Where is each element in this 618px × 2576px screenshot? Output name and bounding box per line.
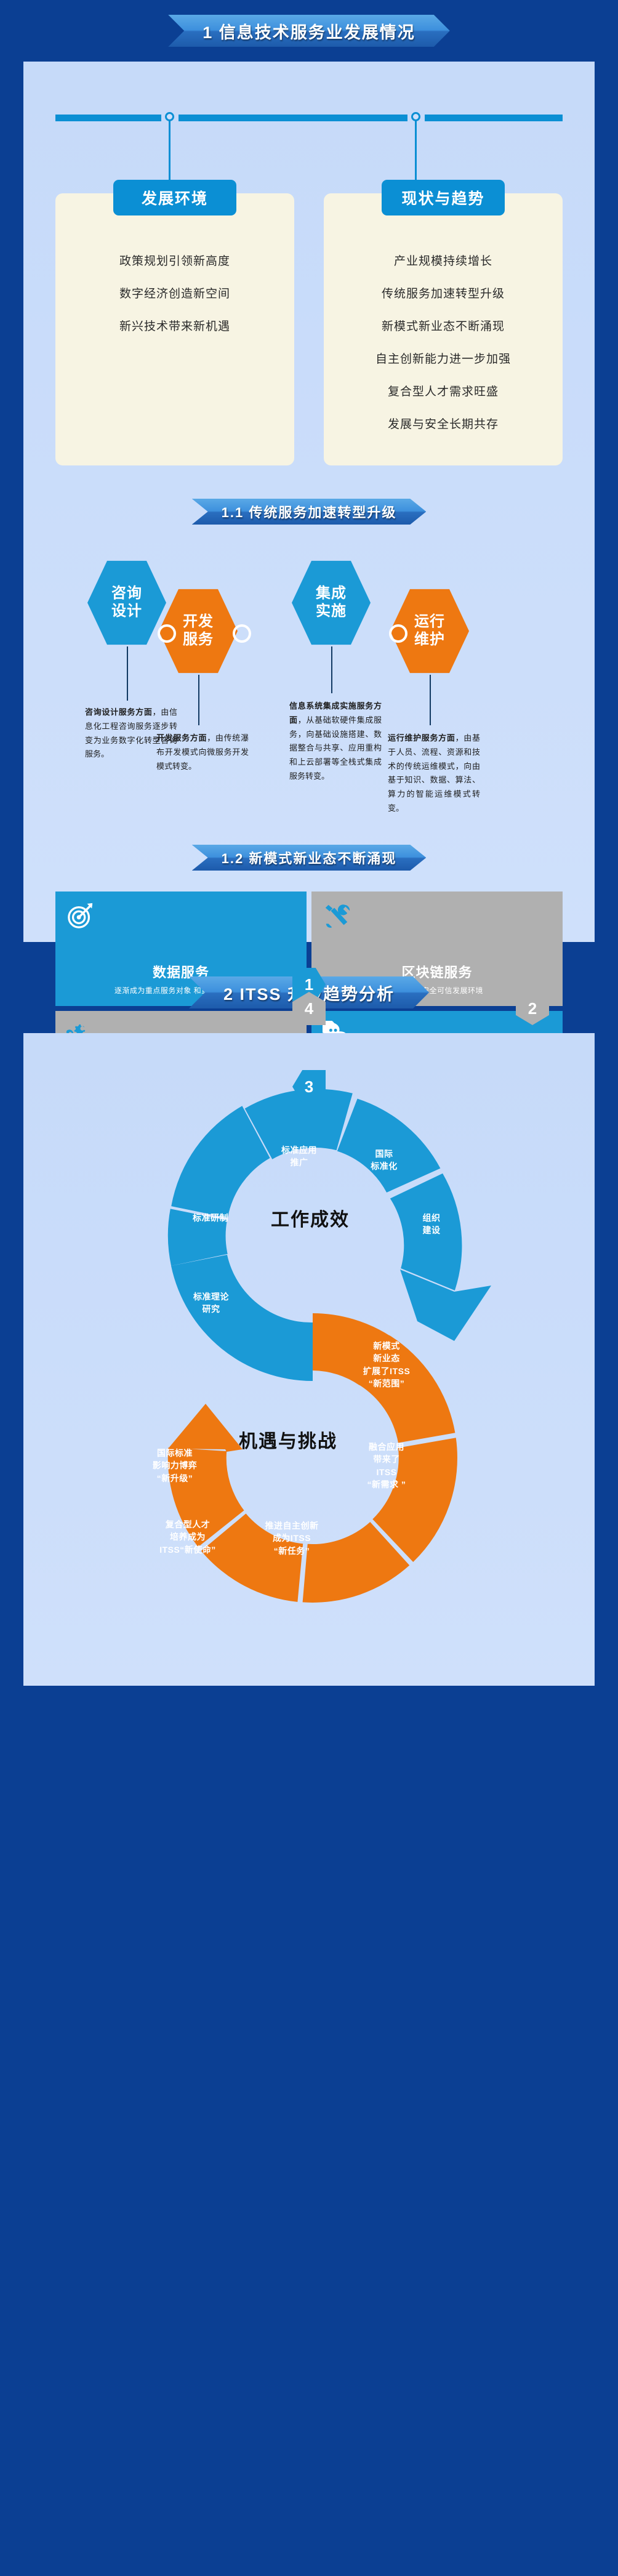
s-segment-new-task: 推进自主创新 成为ITSS “新任务” [244, 1519, 340, 1557]
connector-bar-middle [179, 115, 407, 121]
tools-icon [323, 901, 351, 930]
hex-label-line1: 咨询 [111, 585, 142, 603]
list-item: 新兴技术带来新机遇 [71, 310, 278, 343]
hex-label-line2: 服务 [183, 631, 214, 649]
list-item: 发展与安全长期共存 [340, 408, 547, 441]
spacer-after-banner1 [0, 47, 618, 62]
s-segment-organization-building: 组织 建设 [405, 1212, 458, 1237]
s-segment-international-standardization: 国际 标准化 [355, 1148, 414, 1173]
hex-desc-integration: 信息系统集成实施服务方面，从基础软硬件集成服务，向基础设施搭建、数据整合与共享、… [289, 699, 382, 784]
section1-2-banner: 1.2 新模式新业态不断涌现 [192, 845, 427, 871]
list-item: 复合型人才需求旺盛 [340, 376, 547, 408]
hex-desc-lead: 运行维护服务方面 [388, 733, 455, 743]
list-item: 数字经济创造新空间 [71, 278, 278, 310]
hex-stem-1 [127, 646, 128, 701]
card-list: 产业规模持续增长 传统服务加速转型升级 新模式新业态不断涌现 自主创新能力进一步… [324, 245, 563, 441]
hexagon-flow: 咨询 设计 开发 服务 集成 实施 运行 维护 咨询设计 [23, 549, 595, 839]
card-title: 现状与趋势 [382, 180, 505, 215]
hex-stem-2 [198, 675, 199, 725]
s-segment-new-upgrade: 国际标准 影响力博弈 “新升级” [127, 1447, 223, 1484]
infographic-page: 1 信息技术服务业发展情况 发展环境 政策规划引领新高度 数字经济创造新空间 新… [0, 0, 618, 2576]
hex-stem-3 [331, 646, 332, 693]
section1-cards: 发展环境 政策规划引领新高度 数字经济创造新空间 新兴技术带来新机遇 现状与趋势… [23, 193, 595, 465]
list-item: 传统服务加速转型升级 [340, 278, 547, 310]
hex-label-line2: 维护 [414, 631, 445, 649]
hex-desc-lead: 开发服务方面 [156, 733, 207, 743]
s-segment-new-scope: 新模式 新业态 扩展了ITSS “新范围” [337, 1340, 436, 1390]
s-segment-standard-theory-research: 标准理论 研究 [177, 1290, 245, 1316]
connector-bar-right [425, 115, 563, 121]
panel-section1: 发展环境 政策规划引领新高度 数字经济创造新空间 新兴技术带来新机遇 现状与趋势… [23, 62, 595, 942]
card-title: 发展环境 [113, 180, 236, 215]
section1-banner-wrap: 1 信息技术服务业发展情况 [0, 15, 618, 47]
hex-label-line1: 开发 [183, 613, 214, 631]
hex-desc-body: ，从基础软硬件集成服务，向基础设施搭建、数据整合与共享、应用重构和上云部署等全栈… [289, 715, 382, 781]
hex-connector-ring-2 [233, 624, 251, 643]
hex-stem-4 [430, 675, 431, 725]
list-item: 政策规划引领新高度 [71, 245, 278, 278]
s-segment-new-demand: 融合应用 带来了 ITSS “新需求 ” [343, 1441, 430, 1491]
connector-bars [55, 112, 563, 123]
hex-label-line2: 实施 [316, 603, 347, 621]
hex-label-line2: 设计 [111, 603, 142, 621]
section1-2-banner-wrap: 1.2 新模式新业态不断涌现 [23, 845, 595, 871]
list-item: 产业规模持续增长 [340, 245, 547, 278]
card-status-and-trends: 现状与趋势 产业规模持续增长 传统服务加速转型升级 新模式新业态不断涌现 自主创… [324, 193, 563, 465]
hex-desc-operation: 运行维护服务方面，由基于人员、流程、资源和技术的传统运维模式，向由基于知识、数据… [388, 731, 480, 816]
hex-desc-lead: 咨询设计服务方面 [85, 707, 153, 717]
section1-1-banner-wrap: 1.1 传统服务加速转型升级 [23, 499, 595, 525]
hex-label-line1: 运行 [414, 613, 445, 631]
target-arrow-icon [66, 901, 95, 930]
hex-desc-body: ，由基于人员、流程、资源和技术的传统运维模式，向由基于知识、数据、算法、算力的智… [388, 733, 480, 813]
s-curve-svg [23, 1033, 595, 1661]
s-curve-top-label: 工作成效 [271, 1204, 350, 1231]
s-segment-new-mission: 复合型人才 培养成为 ITSS“新使命” [135, 1518, 240, 1556]
hex-desc-development: 开发服务方面，由传统瀑布开发模式向微服务开发模式转变。 [156, 731, 249, 773]
connector-node-left [165, 112, 174, 121]
card-development-environment: 发展环境 政策规划引领新高度 数字经济创造新空间 新兴技术带来新机遇 [55, 193, 294, 465]
panel-section2: 工作成效 机遇与挑战 标准应用 推广 国际 标准化 组织 建设 标准研制 标准理… [23, 1033, 595, 1686]
section1-banner: 1 信息技术服务业发展情况 [168, 15, 450, 47]
hex-connector-ring-3 [389, 624, 407, 643]
hex-label-line1: 集成 [316, 585, 347, 603]
connector-node-right [411, 112, 420, 121]
hex-consulting-design: 咨询 设计 [87, 559, 166, 646]
hex-integration-implementation: 集成 实施 [292, 559, 371, 646]
list-item: 自主创新能力进一步加强 [340, 343, 547, 376]
s-curve-diagram: 工作成效 机遇与挑战 标准应用 推广 国际 标准化 组织 建设 标准研制 标准理… [23, 1033, 595, 1661]
s-segment-standard-development: 标准研制 [179, 1212, 243, 1224]
section1-1-banner: 1.1 传统服务加速转型升级 [192, 499, 427, 525]
s-curve-bottom-label: 机遇与挑战 [239, 1426, 337, 1453]
spacer-top [0, 0, 618, 15]
s-segment-standard-application: 标准应用 推广 [262, 1144, 336, 1169]
connector-bar-left [55, 115, 161, 121]
hex-connector-ring-1 [158, 624, 176, 643]
list-item: 新模式新业态不断涌现 [340, 310, 547, 343]
card-list: 政策规划引领新高度 数字经济创造新空间 新兴技术带来新机遇 [55, 245, 294, 343]
